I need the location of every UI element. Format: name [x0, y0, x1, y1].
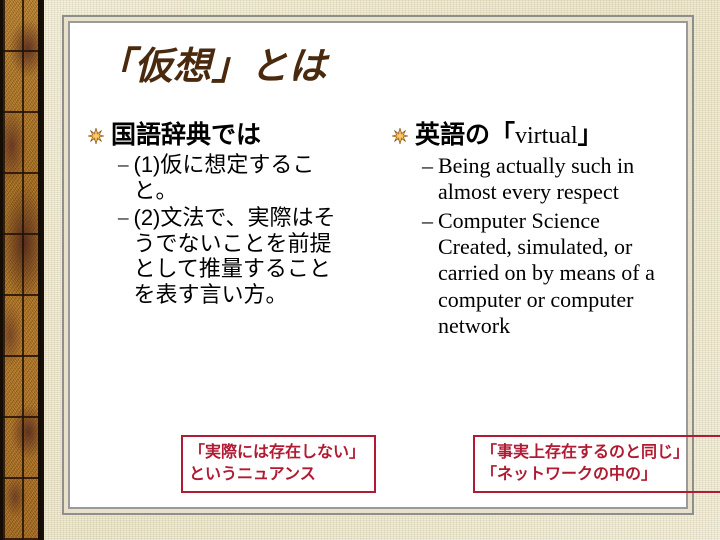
- dash-marker: –: [118, 152, 129, 177]
- callout-box-right: 「事実上存在するのと同じ」 「ネットワークの中の」: [473, 435, 720, 493]
- sub-bullet-en-1: – Being actually such in almost every re…: [422, 153, 682, 206]
- presentation-slide: 「仮想」とは 国語辞典では –: [0, 0, 720, 540]
- slide-content-panel: 「仮想」とは 国語辞典では –: [68, 21, 688, 509]
- sidebar-right-edge: [38, 0, 42, 540]
- heading-jp-open: 英語の「: [415, 121, 515, 149]
- sub-bullet-en-2: – Computer Science Created, simulated, o…: [422, 208, 682, 340]
- callout-left-line2: というニュアンス: [189, 464, 369, 486]
- bullet-heading-english: 英語の「virtual」: [415, 121, 603, 150]
- sidebar-grid-overlay: [3, 0, 38, 540]
- heading-jp-close: 」: [578, 121, 603, 149]
- callout-left-line1: 「実際には存在しない」: [189, 442, 369, 464]
- sidebar-left-edge: [0, 0, 3, 540]
- slide-frame-outer: 「仮想」とは 国語辞典では –: [62, 15, 694, 515]
- heading-en-word: virtual: [515, 123, 578, 149]
- dash-marker: –: [118, 205, 129, 230]
- dash-marker: –: [422, 153, 433, 179]
- sub-bullet-jp-1: – (1)仮に想定すること。: [118, 152, 378, 203]
- dash-marker: –: [422, 208, 433, 234]
- callout-right-line1: 「事実上存在するのと同じ」: [481, 442, 720, 464]
- callout-right-line2: 「ネットワークの中の」: [481, 464, 720, 486]
- star-burst-icon: [392, 128, 408, 144]
- bullet-level1-english: 英語の「virtual」: [392, 121, 682, 150]
- bullet-level1-japanese: 国語辞典では: [88, 121, 378, 149]
- column-english-virtual: 英語の「virtual」 – Being actually such in al…: [392, 121, 682, 421]
- slide-body: 国語辞典では – (1)仮に想定すること。 – (2)文法で、実際はそうでないこ…: [88, 121, 684, 421]
- sub-bullet-en-2-text: Computer Science Created, simulated, or …: [438, 208, 668, 340]
- slide-title: 「仮想」とは: [96, 47, 656, 89]
- callout-row: 「実際には存在しない」 というニュアンス 「事実上存在するのと同じ」 「ネットワ…: [118, 435, 720, 501]
- column-japanese-dictionary: 国語辞典では – (1)仮に想定すること。 – (2)文法で、実際はそうでないこ…: [88, 121, 378, 421]
- sub-bullet-jp-2-text: (2)文法で、実際はそうでないことを前提として推量することを表す言い方。: [134, 205, 340, 307]
- callout-box-left: 「実際には存在しない」 というニュアンス: [181, 435, 376, 493]
- decorative-sidebar-band: [0, 0, 44, 540]
- sub-bullet-jp-2: – (2)文法で、実際はそうでないことを前提として推量することを表す言い方。: [118, 205, 378, 307]
- star-burst-icon: [88, 128, 104, 144]
- sub-bullet-jp-1-text: (1)仮に想定すること。: [134, 152, 340, 203]
- bullet-heading-japanese: 国語辞典では: [111, 121, 261, 149]
- sub-bullet-en-1-text: Being actually such in almost every resp…: [438, 153, 668, 206]
